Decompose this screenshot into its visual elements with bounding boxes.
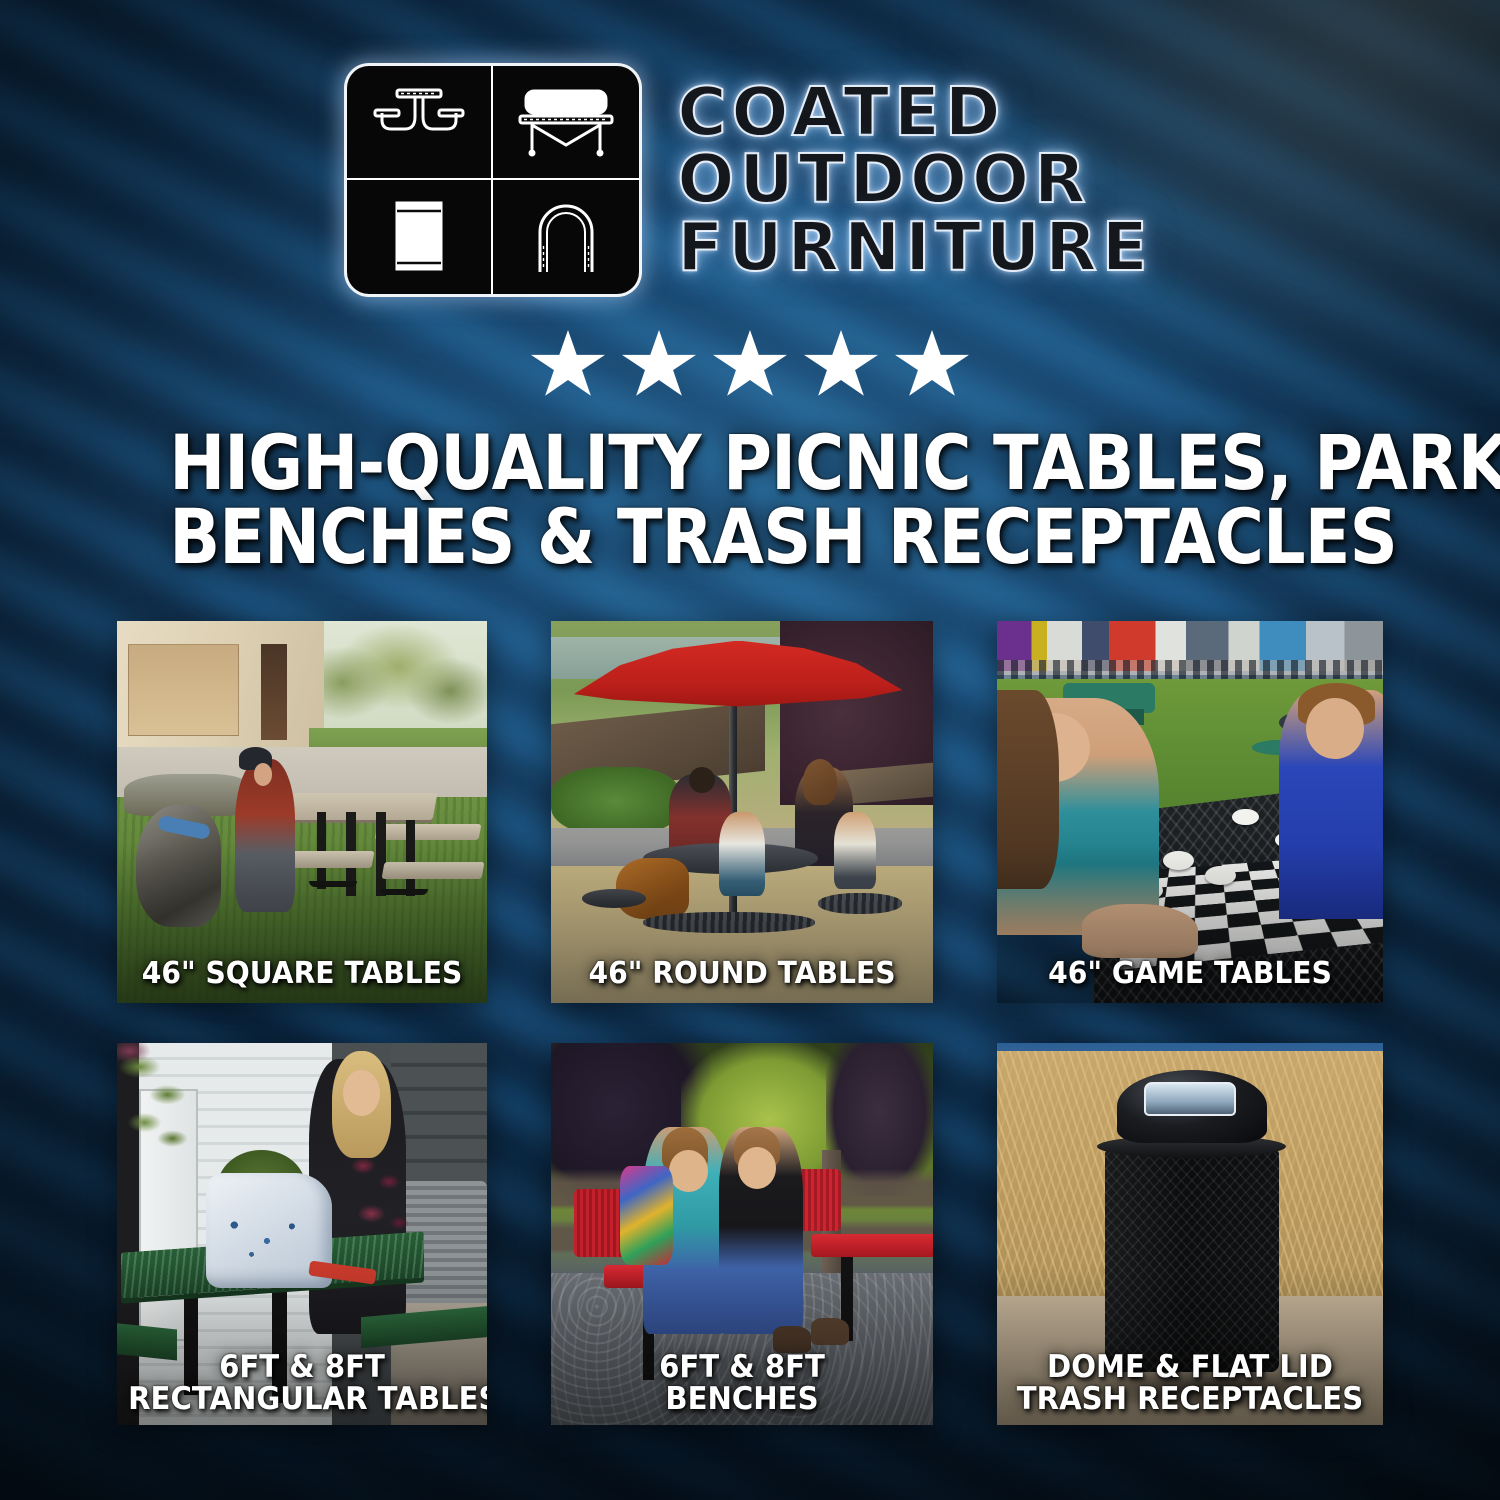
picnic-table-icon bbox=[347, 66, 493, 180]
product-tile-round-tables[interactable]: 46" ROUND TABLES bbox=[551, 621, 933, 1003]
product-tile-trash-receptacles[interactable]: DOME & FLAT LID TRASH RECEPTACLES bbox=[997, 1043, 1383, 1425]
product-tile-benches[interactable]: 6FT & 8FT BENCHES bbox=[551, 1043, 933, 1425]
brand-line-3: FURNITURE bbox=[677, 215, 1152, 281]
product-grid: 46" SQUARE TABLES bbox=[117, 621, 1383, 1425]
trash-receptacle-icon bbox=[347, 180, 493, 294]
star-icon bbox=[804, 330, 878, 400]
brand-line-1: COATED bbox=[677, 80, 1152, 146]
brand-logo: COATED OUTDOOR FURNITURE bbox=[347, 66, 1152, 294]
star-icon bbox=[895, 330, 969, 400]
product-photo-round-tables bbox=[551, 621, 933, 1003]
headline-line-1: HIGH-QUALITY PICNIC TABLES, PARK bbox=[169, 426, 1331, 500]
star-icon bbox=[713, 330, 787, 400]
brand-line-2: OUTDOOR bbox=[677, 147, 1152, 213]
bike-rack-icon bbox=[493, 180, 639, 294]
product-tile-rectangular-tables[interactable]: 6FT & 8FT RECTANGULAR TABLES bbox=[117, 1043, 487, 1425]
star-icon bbox=[531, 330, 605, 400]
brand-wordmark: COATED OUTDOOR FURNITURE bbox=[677, 80, 1152, 281]
headline: HIGH-QUALITY PICNIC TABLES, PARK BENCHES… bbox=[169, 426, 1331, 573]
park-bench-icon bbox=[493, 66, 639, 180]
promo-banner: COATED OUTDOOR FURNITURE HIGH-QUALITY PI… bbox=[0, 0, 1500, 1500]
product-photo-benches bbox=[551, 1043, 933, 1425]
logo-icon-grid bbox=[347, 66, 639, 294]
star-icon bbox=[622, 330, 696, 400]
star-rating bbox=[531, 330, 969, 400]
product-photo-trash-receptacles bbox=[997, 1043, 1383, 1425]
product-photo-game-tables bbox=[997, 621, 1383, 1003]
product-photo-square-tables bbox=[117, 621, 487, 1003]
product-tile-game-tables[interactable]: 46" GAME TABLES bbox=[997, 621, 1383, 1003]
product-tile-square-tables[interactable]: 46" SQUARE TABLES bbox=[117, 621, 487, 1003]
product-photo-rectangular-tables bbox=[117, 1043, 487, 1425]
headline-line-2: BENCHES & TRASH RECEPTACLES bbox=[169, 500, 1331, 574]
